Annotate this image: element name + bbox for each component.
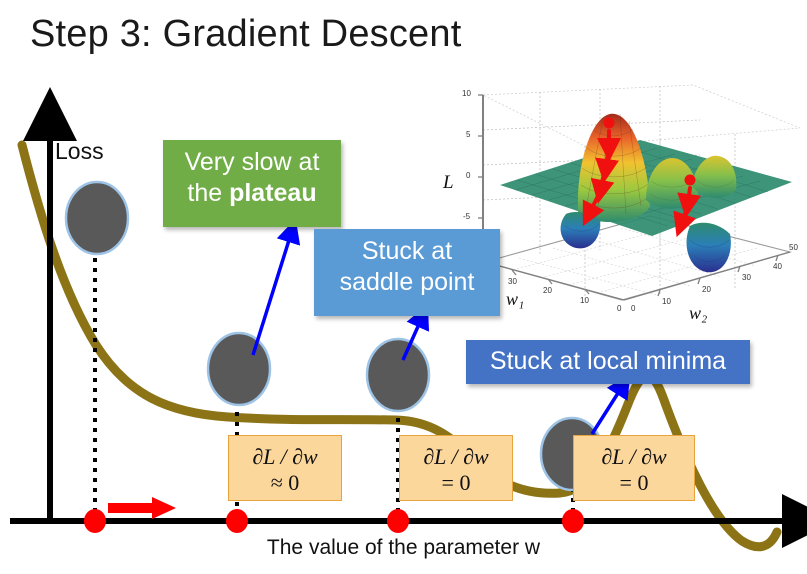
derivative-expr-2: ∂L / ∂w xyxy=(400,444,512,470)
inset-w2-tick-0: 0 xyxy=(631,304,635,313)
derivative-box-minima: ∂L / ∂w = 0 xyxy=(573,435,695,501)
inset-z-axis-label: L xyxy=(443,172,454,194)
derivative-box-saddle: ∂L / ∂w = 0 xyxy=(399,435,513,501)
callout-plateau-line2-prefix: the xyxy=(187,179,229,207)
inset-w2-tick-40: 40 xyxy=(773,262,782,271)
callout-local-minima[interactable]: Stuck at local minima xyxy=(466,340,750,384)
derivative-value-3: = 0 xyxy=(574,470,694,496)
derivative-box-plateau: ∂L / ∂w ≈ 0 xyxy=(228,435,342,501)
derivative-expr-1: ∂L / ∂w xyxy=(229,444,341,470)
inset-x-axis-label: w₁ xyxy=(506,289,524,310)
derivative-expr-3: ∂L / ∂w xyxy=(574,444,694,470)
inset-y-axis-label: w₂ xyxy=(689,303,707,324)
inset-z-tick-10: 10 xyxy=(462,89,471,98)
derivative-value-1: ≈ 0 xyxy=(229,470,341,496)
derivative-value-2: = 0 xyxy=(400,470,512,496)
inset-z-tick-5: 5 xyxy=(466,130,470,139)
callout-plateau-line2-bold: plateau xyxy=(229,179,317,207)
inset-z-tick-n5: -5 xyxy=(463,212,470,221)
inset-w2-tick-50: 50 xyxy=(789,243,798,252)
inset-w2-tick-20: 20 xyxy=(702,285,711,294)
inset-w2-tick-10: 10 xyxy=(662,297,671,306)
inset-w1-tick-30: 30 xyxy=(508,277,517,286)
callout-local-minima-text: Stuck at local minima xyxy=(490,347,726,375)
inset-w2-tick-30: 30 xyxy=(742,273,751,282)
callout-saddle-point[interactable]: Stuck at saddle point xyxy=(314,229,500,316)
inset-w1-tick-10: 10 xyxy=(580,296,589,305)
inset-z-tick-0: 0 xyxy=(466,171,470,180)
inset-peak xyxy=(578,114,650,222)
callout-plateau[interactable]: Very slow at the plateau xyxy=(163,140,341,227)
callout-saddle-line1: Stuck at xyxy=(362,237,452,265)
inset-w1-tick-0: 0 xyxy=(617,304,621,313)
slide-canvas: Step 3: Gradient Descent xyxy=(0,0,807,574)
callout-plateau-line1: Very slow at xyxy=(185,148,320,176)
inset-w1-tick-20: 20 xyxy=(543,286,552,295)
callout-saddle-line2: saddle point xyxy=(340,268,475,296)
